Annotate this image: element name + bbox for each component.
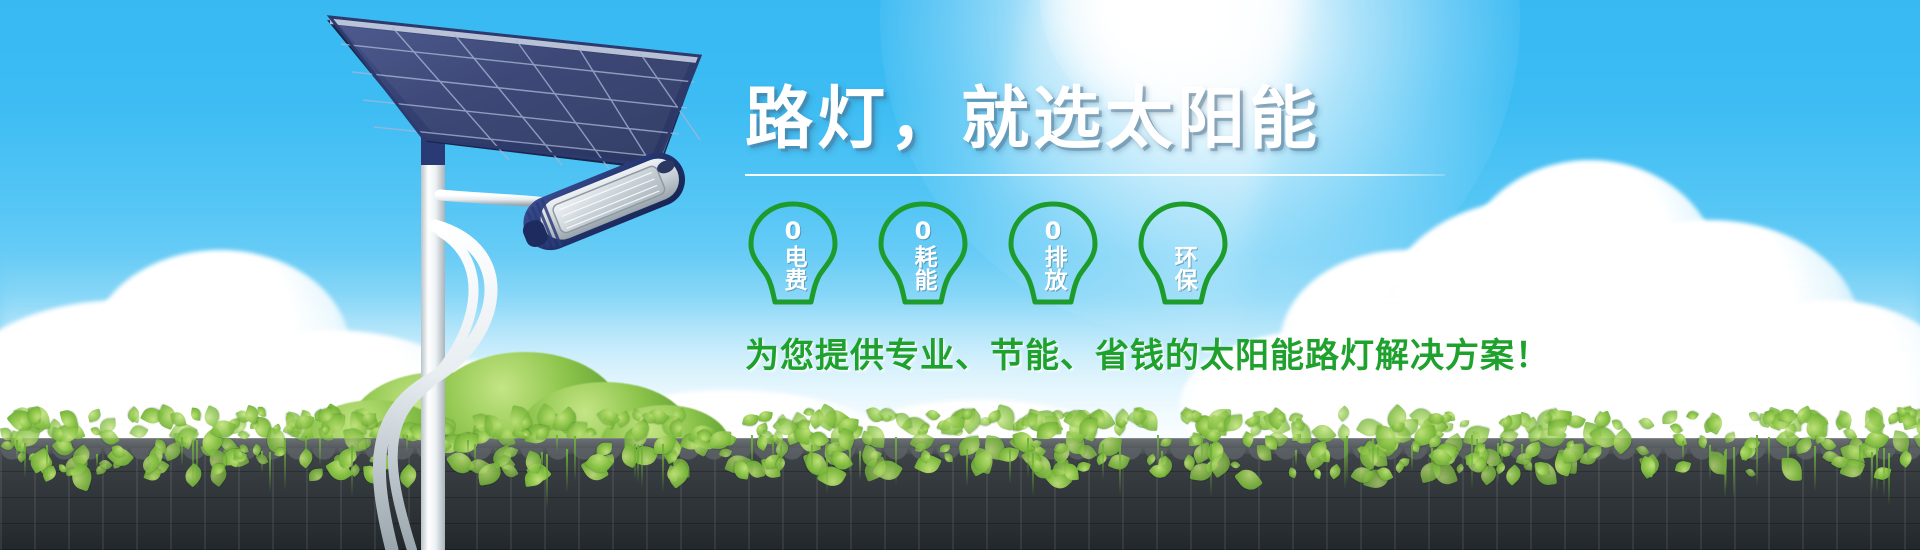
feature-badge-list: 0 电费 0 耗能 0 排放 (745, 198, 1445, 308)
page-title: 路灯，就选太阳能 (745, 86, 1445, 154)
feature-badge-electricity-cost: 0 电费 (745, 198, 841, 308)
badge-prefix: 0 (1045, 219, 1062, 245)
badge-prefix: 0 (915, 219, 932, 245)
feature-badge-emissions: 0 排放 (1005, 198, 1101, 308)
feature-badge-eco-friendly: 环保 (1135, 198, 1231, 308)
tiled-stone-wall (0, 438, 1920, 550)
hero-tagline: 为您提供专业、节能、省钱的太阳能路灯解决方案！ (745, 328, 1445, 377)
solar-street-light-hero-banner: {} (0, 0, 1920, 550)
badge-label: 耗能 (911, 245, 935, 291)
badge-prefix: 0 (785, 219, 802, 245)
badge-label: 电费 (781, 245, 805, 291)
headline-divider (745, 174, 1445, 176)
feature-badge-energy-consumption: 0 耗能 (875, 198, 971, 308)
hero-copy: 路灯，就选太阳能 0 电费 0 耗能 (745, 86, 1445, 377)
badge-label: 排放 (1041, 245, 1065, 291)
wall-scallop-tiles (0, 448, 1920, 468)
badge-label: 环保 (1171, 245, 1195, 291)
